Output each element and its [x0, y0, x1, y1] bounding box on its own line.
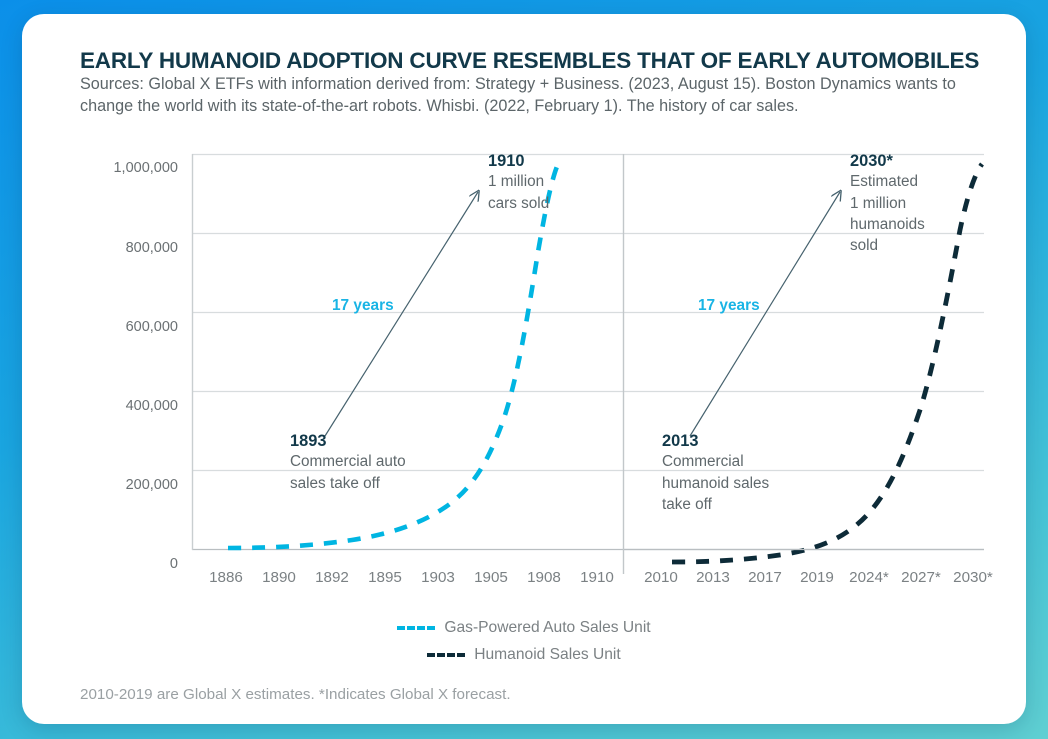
- annotation-1893-line2: sales take off: [290, 474, 470, 494]
- legend-swatch-gas-powered-auto: [397, 626, 435, 630]
- annotation-2013-line3: take off: [662, 495, 832, 515]
- annotation-1910-year: 1910: [488, 152, 598, 171]
- annotation-2030-line2: 1 million: [850, 194, 970, 214]
- annotation-2030-year: 2030*: [850, 152, 970, 171]
- annotation-2030: 2030* Estimated 1 million humanoids sold: [850, 152, 970, 256]
- annotation-2030-line4: sold: [850, 236, 970, 256]
- annotation-1910: 1910 1 million cars sold: [488, 152, 598, 214]
- legend-swatch-humanoid: [427, 653, 465, 657]
- annotation-1910-line2: cars sold: [488, 194, 598, 214]
- x-tick-1910: 1910: [562, 569, 632, 586]
- annotation-1893: 1893 Commercial auto sales take off: [290, 432, 470, 494]
- annotation-2030-line1: Estimated: [850, 172, 970, 192]
- legend-label-humanoid: Humanoid Sales Unit: [474, 646, 620, 664]
- span-label-left: 17 years: [332, 297, 394, 315]
- legend-row-2: Humanoid Sales Unit: [22, 644, 1026, 664]
- annotation-2013-year: 2013: [662, 432, 832, 451]
- legend-item-gas-powered-auto[interactable]: Gas-Powered Auto Sales Unit: [397, 619, 650, 637]
- annotation-1893-line1: Commercial auto: [290, 452, 470, 472]
- annotation-2013-line2: humanoid sales: [662, 474, 832, 494]
- legend-item-humanoid[interactable]: Humanoid Sales Unit: [427, 646, 620, 664]
- annotation-1910-line1: 1 million: [488, 172, 598, 192]
- legend: Gas-Powered Auto Sales Unit: [22, 617, 1026, 637]
- x-tick-2030: 2030*: [938, 569, 1008, 586]
- footnote: 2010-2019 are Global X estimates. *Indic…: [80, 686, 511, 703]
- chart-card: EARLY HUMANOID ADOPTION CURVE RESEMBLES …: [22, 14, 1026, 724]
- annotation-2013: 2013 Commercial humanoid sales take off: [662, 432, 832, 515]
- span-label-right: 17 years: [698, 297, 760, 315]
- annotation-2013-line1: Commercial: [662, 452, 832, 472]
- annotation-1893-year: 1893: [290, 432, 470, 451]
- legend-label-gas-powered-auto: Gas-Powered Auto Sales Unit: [444, 619, 650, 637]
- annotation-2030-line3: humanoids: [850, 215, 970, 235]
